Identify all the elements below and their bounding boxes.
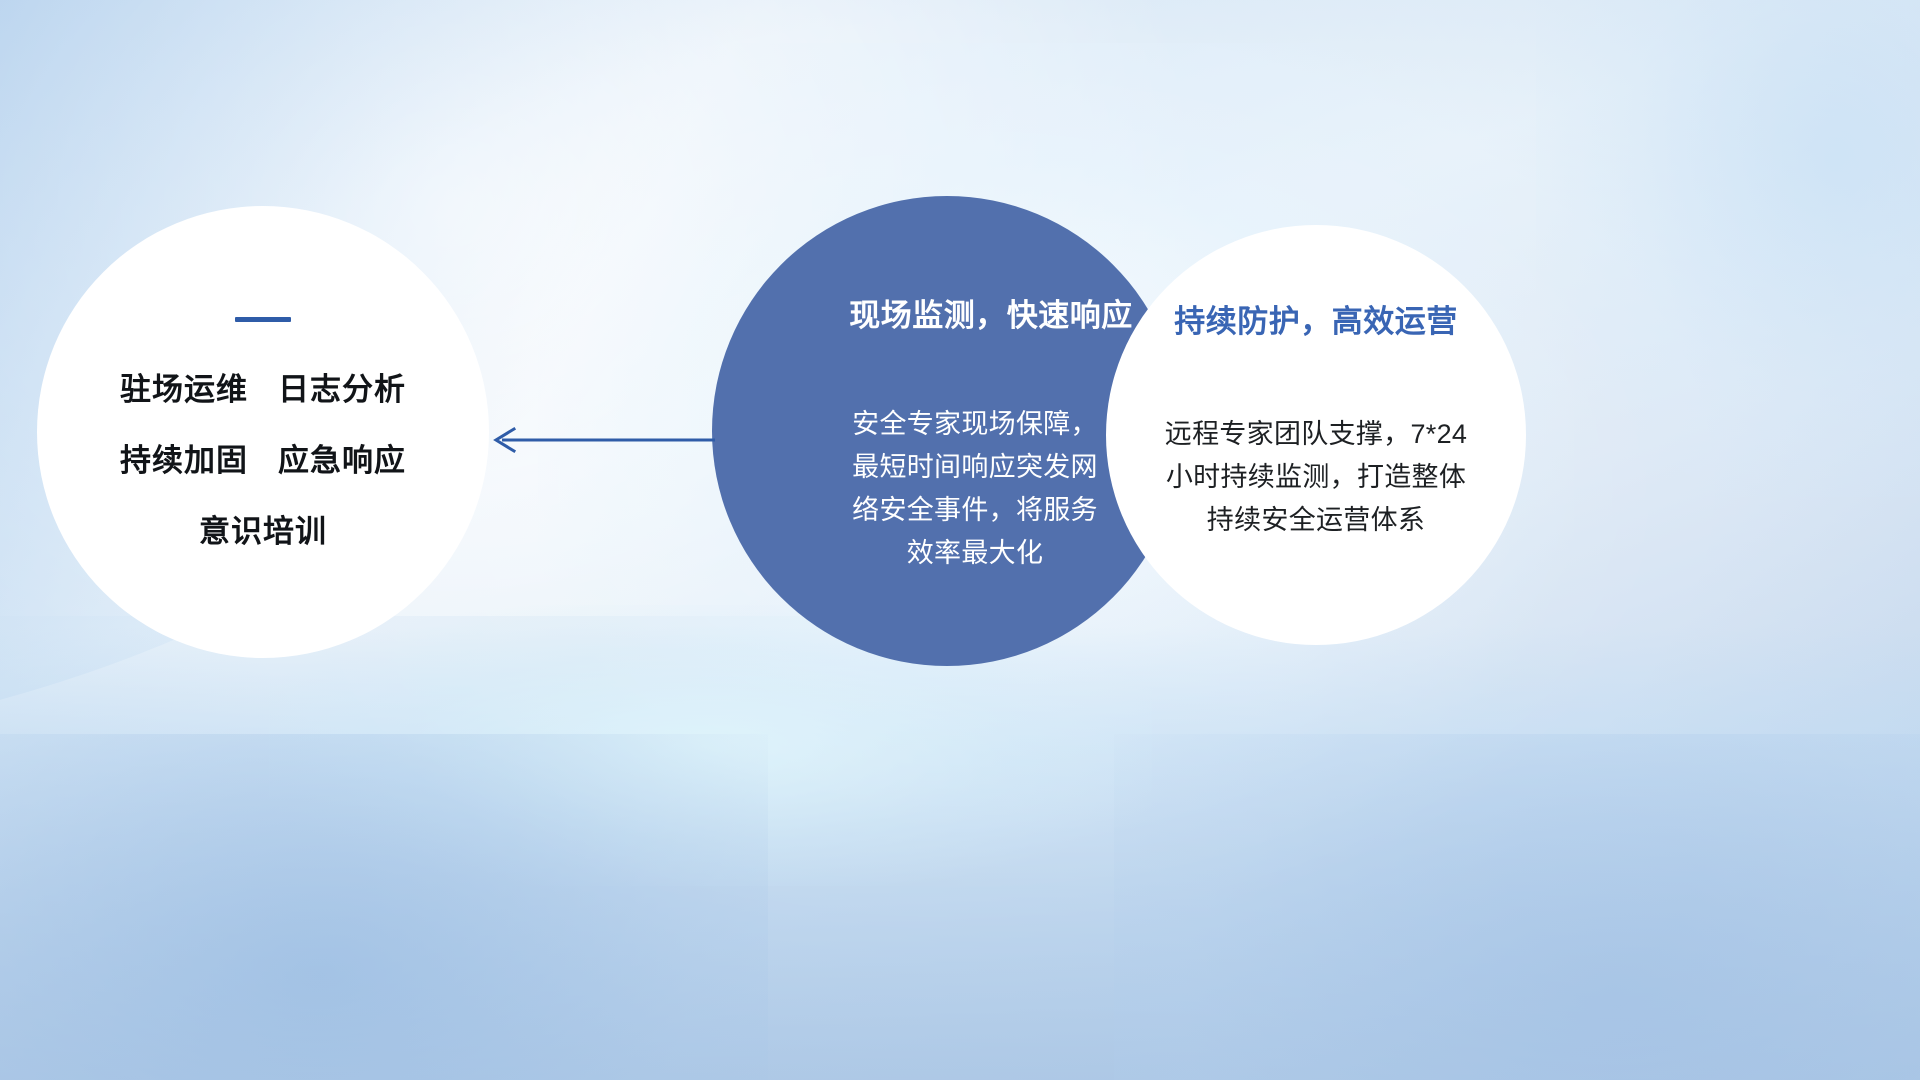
circle-onsite-monitoring-title: 现场监测，快速响应 [849, 290, 1133, 335]
capability-row: 持续加固 应急响应 [120, 435, 406, 480]
capability-item: 持续加固 [120, 435, 248, 480]
circle-onsite-monitoring-body: 安全专家现场保障， 最短时间响应突发网 络安全事件，将服务 效率最大化 [810, 403, 1140, 575]
body-line: 最短时间响应突发网 [810, 446, 1140, 489]
circle-onsite-monitoring-content: 现场监测，快速响应 安全专家现场保障， 最短时间响应突发网 络安全事件，将服务 … [712, 196, 1182, 666]
capability-item: 意识培训 [199, 506, 327, 551]
body-line: 小时持续监测，打造整体 [1126, 456, 1506, 499]
circle-continuous-protection-title: 持续防护，高效运营 [1174, 296, 1458, 341]
slide-canvas: 持续防护，高效运营 远程专家团队支撑，7*24 小时持续监测，打造整体 持续安全… [0, 0, 1920, 1080]
capability-list: 驻场运维 日志分析 持续加固 应急响应 意识培训 [120, 364, 406, 551]
circle-service-capabilities-content: 驻场运维 日志分析 持续加固 应急响应 意识培训 [37, 206, 489, 658]
arrow-left-icon [490, 424, 715, 456]
capability-item: 日志分析 [278, 364, 406, 409]
body-line: 持续安全运营体系 [1126, 499, 1506, 542]
body-line: 络安全事件，将服务 [810, 489, 1140, 532]
capability-item: 驻场运维 [120, 364, 248, 409]
divider-rule [235, 317, 291, 322]
body-line: 效率最大化 [810, 532, 1140, 575]
capability-row: 驻场运维 日志分析 [120, 364, 406, 409]
body-line: 安全专家现场保障， [810, 403, 1140, 446]
capability-item: 应急响应 [278, 435, 406, 480]
circle-service-capabilities[interactable]: 驻场运维 日志分析 持续加固 应急响应 意识培训 [37, 206, 489, 658]
capability-row: 意识培训 [199, 506, 327, 551]
body-line: 远程专家团队支撑，7*24 [1126, 413, 1506, 456]
circle-continuous-protection-body: 远程专家团队支撑，7*24 小时持续监测，打造整体 持续安全运营体系 [1126, 413, 1506, 542]
